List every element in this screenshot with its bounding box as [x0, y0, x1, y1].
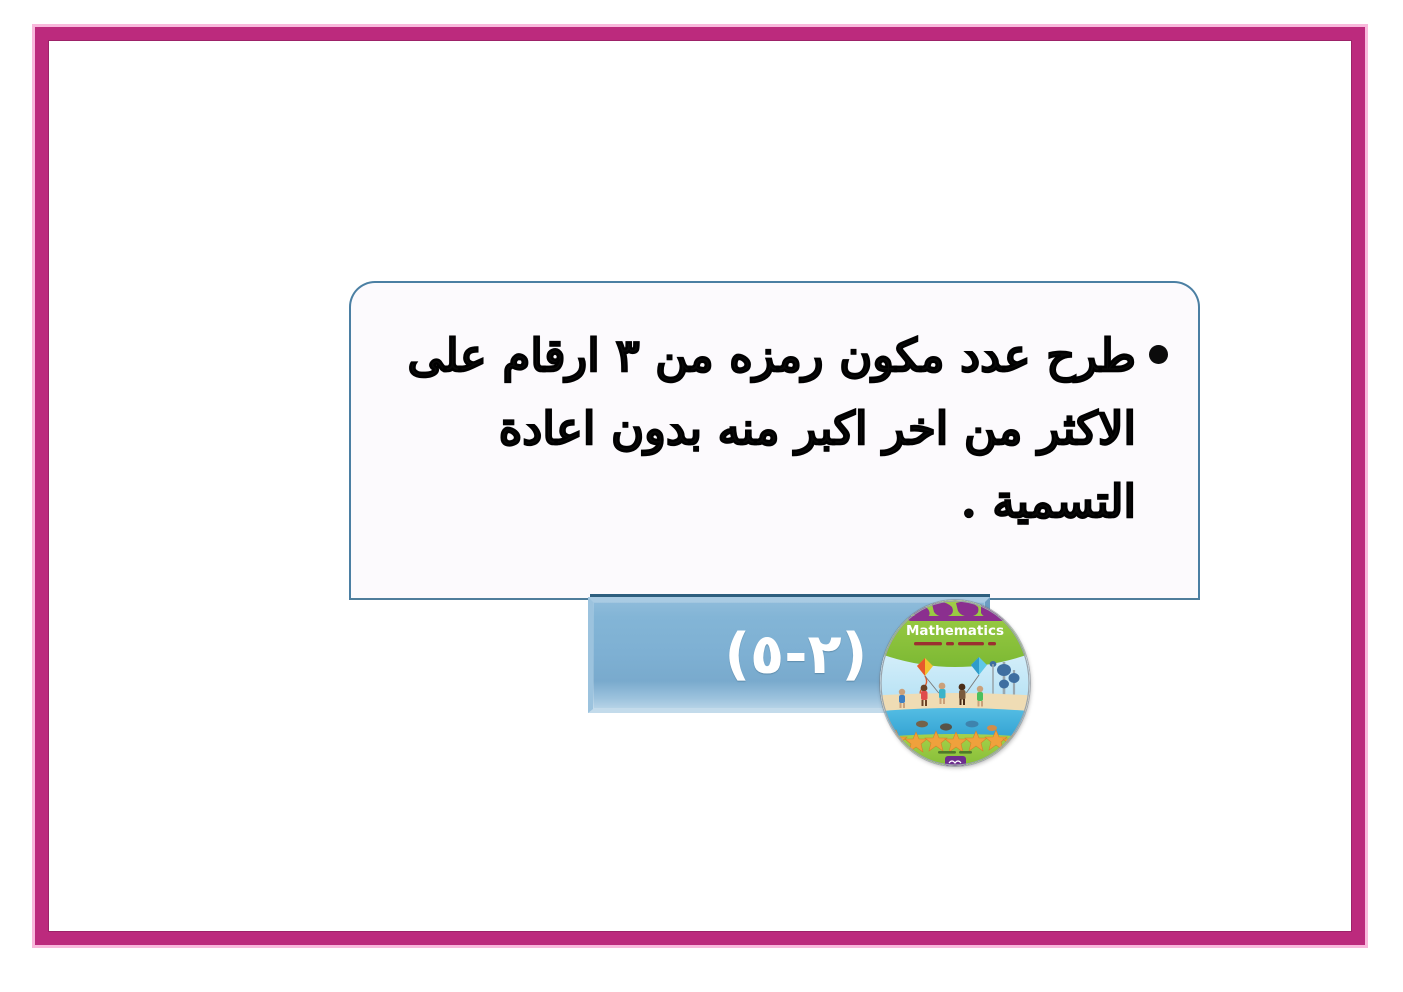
bullet-text-line-1: طرح عدد مكون رمزه من ٣ ارقام على: [377, 319, 1136, 392]
bullet-point-icon: [1149, 345, 1168, 364]
content-text-card: طرح عدد مكون رمزه من ٣ ارقام على الاكثر …: [349, 281, 1200, 600]
bullet-text-line-3: التسمية .: [377, 465, 1136, 538]
bullet-text-line-2: الاكثر من اخر اكبر منه بدون اعادة: [377, 392, 1136, 465]
logo-footer-arabic: [938, 751, 972, 754]
math-textbook-cover-icon: Mathematics: [880, 600, 1030, 766]
bullet-list-item: طرح عدد مكون رمزه من ٣ ارقام على الاكثر …: [377, 319, 1180, 538]
math-textbook-cover-artwork: Mathematics: [880, 600, 1030, 766]
bulleted-text-block: طرح عدد مكون رمزه من ٣ ارقام على الاكثر …: [377, 319, 1180, 538]
slide-canvas: طرح عدد مكون رمزه من ٣ ارقام على الاكثر …: [0, 0, 1403, 992]
logo-title-english: Mathematics: [906, 623, 1004, 639]
